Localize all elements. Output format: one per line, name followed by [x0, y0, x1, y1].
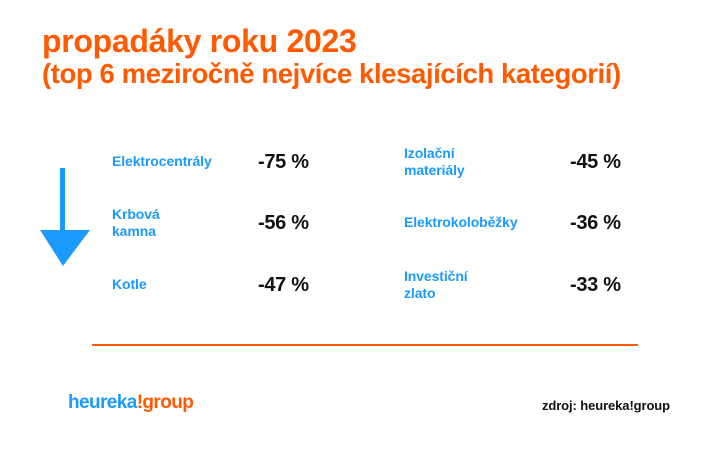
title-line-secondary: (top 6 meziročně nejvíce klesajících kat… [42, 59, 692, 90]
category-label-line2: materiály [404, 162, 568, 179]
category-label-krbova-kamna: Krbová kamna [112, 206, 258, 240]
category-label-line1: Elektrokoloběžky [404, 214, 568, 231]
category-value-kotle: -47 % [258, 274, 402, 297]
source-attribution: zdroj: heureka!group [542, 398, 670, 413]
category-label-kotle: Kotle [112, 276, 258, 293]
category-label-investicni-zlato: Investiční zlato [402, 268, 568, 302]
category-value-elektrokolobezky: -36 % [568, 212, 672, 235]
category-value-elektrocentraly: -75 % [258, 151, 402, 174]
category-label-line1: Investiční [404, 268, 568, 285]
page-title: propadáky roku 2023 (top 6 meziročně nej… [42, 24, 692, 90]
heureka-group-logo: heureka!group [68, 392, 193, 414]
category-stats-grid: Elektrocentrály -75 % Izolační materiály… [112, 132, 672, 316]
category-value-izolacni-materialy: -45 % [568, 151, 672, 174]
category-label-line2: zlato [404, 285, 568, 302]
category-value-investicni-zlato: -33 % [568, 274, 672, 297]
category-label-elektrokolobezky: Elektrokoloběžky [402, 214, 568, 231]
arrow-down-icon [38, 168, 92, 268]
logo-text-primary: heureka [68, 392, 137, 413]
category-label-elektrocentraly: Elektrocentrály [112, 153, 258, 170]
category-label-izolacni-materialy: Izolační materiály [402, 145, 568, 179]
category-label-line1: Elektrocentrály [112, 153, 258, 170]
category-label-line1: Kotle [112, 276, 258, 293]
category-label-line2: kamna [112, 223, 258, 240]
logo-text-accent: !group [137, 392, 194, 413]
category-label-line1: Izolační [404, 145, 568, 162]
horizontal-divider [92, 344, 638, 346]
title-line-primary: propadáky roku 2023 [42, 24, 692, 60]
category-value-krbova-kamna: -56 % [258, 212, 402, 235]
category-label-line1: Krbová [112, 206, 258, 223]
